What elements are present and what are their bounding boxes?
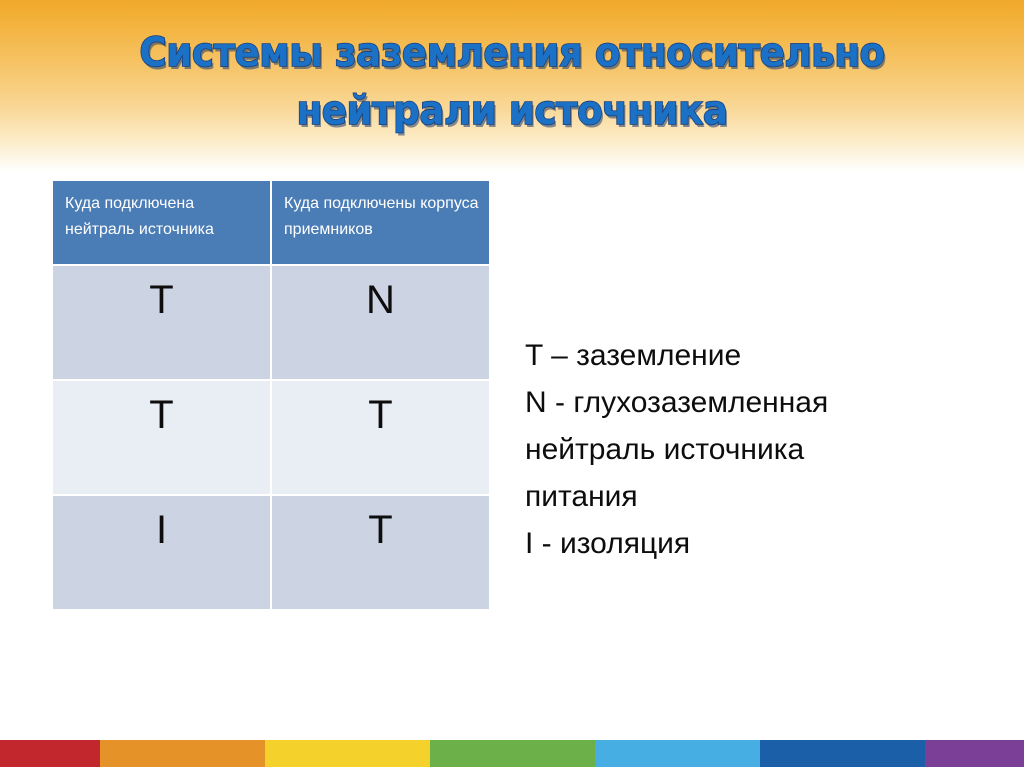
page-title: Системы заземления относительно нейтрали…	[0, 24, 1024, 140]
legend-line: питания	[525, 473, 975, 520]
column-header-neutral: Куда подключена нейтраль источника	[53, 181, 270, 264]
cell-enclosure: N	[272, 266, 489, 379]
color-bar-segment-light-blue	[595, 740, 760, 767]
column-header-enclosure: Куда подключены корпуса приемников	[272, 181, 489, 264]
table-row: I T	[53, 496, 489, 609]
presentation-slide: Системы заземления относительно нейтрали…	[0, 0, 1024, 767]
cell-neutral: I	[53, 496, 270, 609]
grounding-systems-table: Куда подключена нейтраль источника Куда …	[51, 179, 491, 611]
legend-line: I - изоляция	[525, 520, 975, 567]
legend-line: нейтраль источника	[525, 426, 975, 473]
page-title-line-2: нейтрали источника	[36, 82, 988, 140]
color-bar-segment-red	[0, 740, 100, 767]
cell-neutral: T	[53, 266, 270, 379]
cell-enclosure: T	[272, 496, 489, 609]
color-bar-segment-yellow	[265, 740, 430, 767]
cell-enclosure: T	[272, 381, 489, 494]
table-body: T N T T I T	[53, 266, 489, 609]
table-row: T N	[53, 266, 489, 379]
color-bar-segment-green	[430, 740, 595, 767]
legend-line: T – заземление	[525, 332, 975, 379]
legend-text-block: T – заземление N - глухозаземленная нейт…	[525, 332, 975, 567]
legend-line: N - глухозаземленная	[525, 379, 975, 426]
table-row: T T	[53, 381, 489, 494]
cell-neutral: T	[53, 381, 270, 494]
footer-color-bar	[0, 740, 1024, 767]
table-header: Куда подключена нейтраль источника Куда …	[53, 181, 489, 264]
color-bar-segment-purple	[925, 740, 1024, 767]
color-bar-segment-orange	[100, 740, 265, 767]
color-bar-segment-dark-blue	[760, 740, 925, 767]
table-header-row: Куда подключена нейтраль источника Куда …	[53, 181, 489, 264]
page-title-line-1: Системы заземления относительно	[36, 24, 988, 82]
